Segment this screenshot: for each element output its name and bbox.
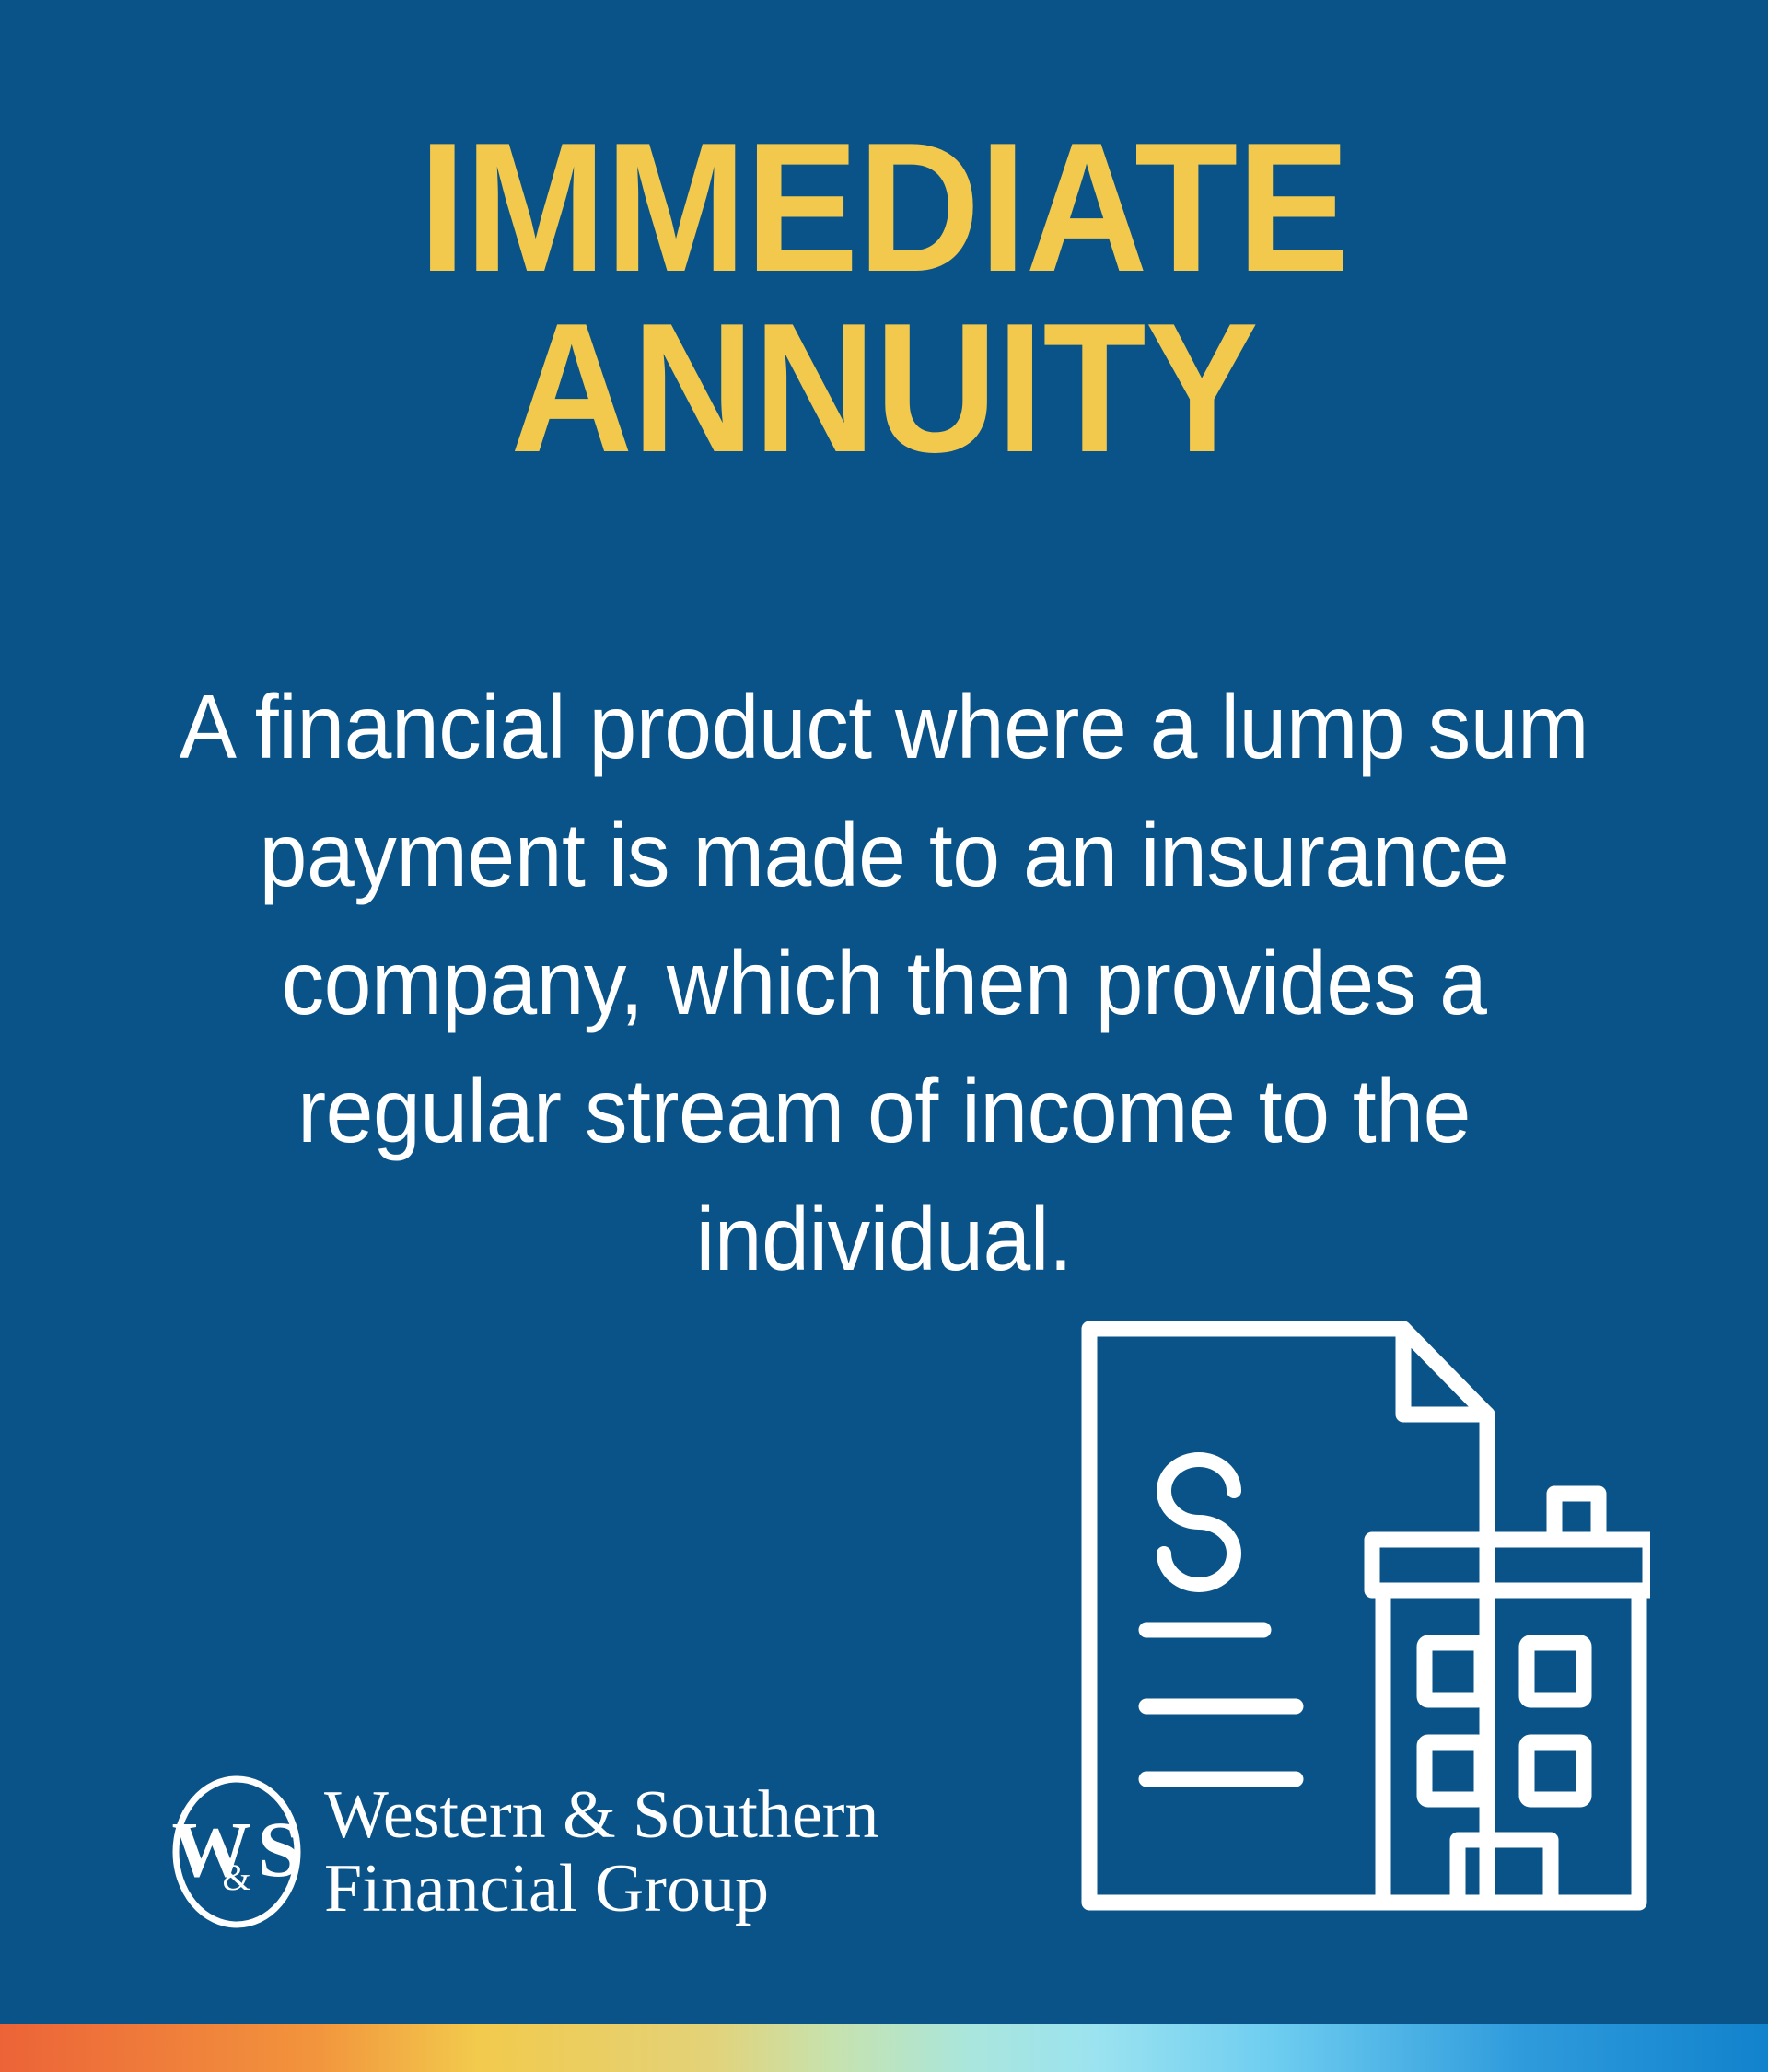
gradient-fill bbox=[0, 2024, 1768, 2072]
page-title: IMMEDIATE ANNUITY bbox=[0, 118, 1768, 479]
logo-wordmark-line-2: Financial Group bbox=[324, 1852, 878, 1926]
brand-gradient-bar bbox=[0, 2024, 1768, 2072]
title-line-1: IMMEDIATE bbox=[71, 118, 1697, 298]
building-cornice bbox=[1372, 1540, 1650, 1590]
building-window-1 bbox=[1425, 1643, 1482, 1700]
building-chimney bbox=[1554, 1494, 1599, 1540]
building-window-2 bbox=[1527, 1643, 1584, 1700]
social-card: IMMEDIATE ANNUITY A financial product wh… bbox=[0, 0, 1768, 2072]
definition-paragraph: A financial product where a lump sum pay… bbox=[176, 663, 1593, 1303]
building-door bbox=[1458, 1840, 1551, 1903]
brand-logo: W S & Western & Southern Financial Group bbox=[169, 1773, 878, 1931]
logo-wordmark: Western & Southern Financial Group bbox=[324, 1778, 878, 1926]
logo-ampersand: & bbox=[222, 1857, 250, 1898]
document-with-dollar-sign-and-office-building-icon bbox=[1079, 1319, 1650, 1913]
building-window-4 bbox=[1527, 1742, 1584, 1799]
logo-wordmark-line-1: Western & Southern bbox=[324, 1778, 878, 1852]
w-and-s-oval-monogram: W S & bbox=[169, 1773, 304, 1931]
dollar-s-glyph bbox=[1164, 1460, 1234, 1585]
title-line-2: ANNUITY bbox=[71, 298, 1697, 479]
building-window-3 bbox=[1425, 1742, 1482, 1799]
